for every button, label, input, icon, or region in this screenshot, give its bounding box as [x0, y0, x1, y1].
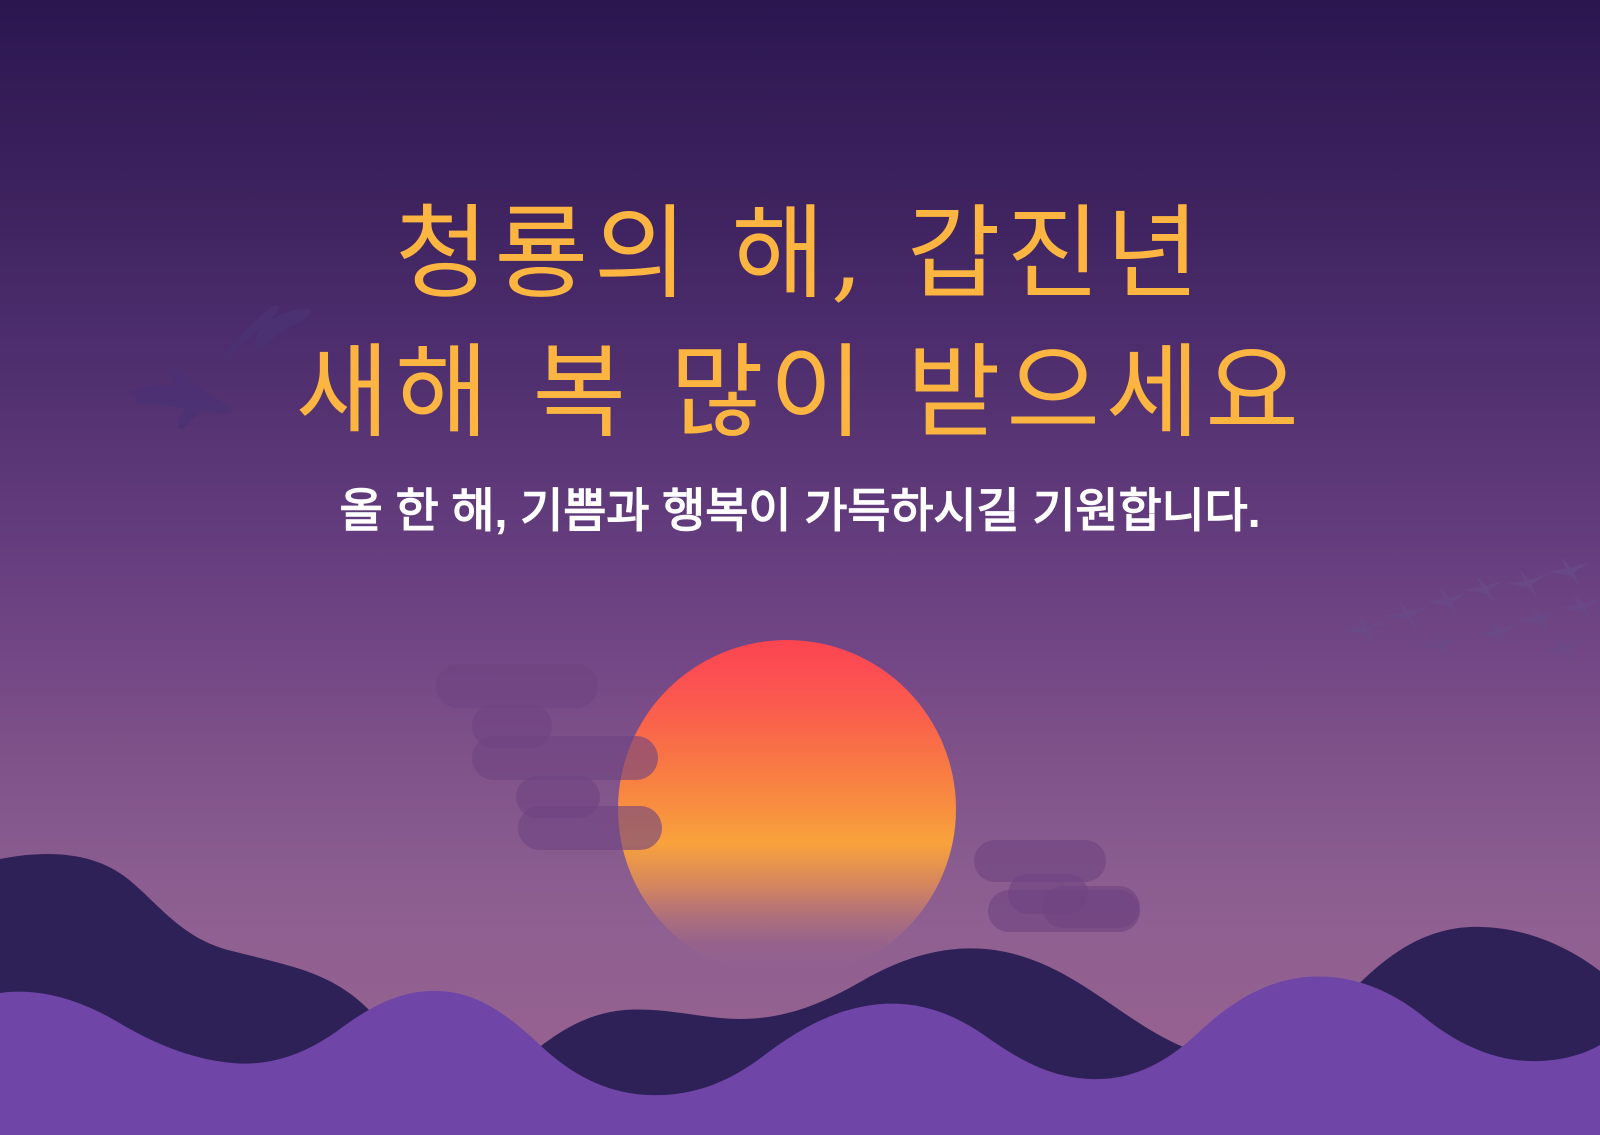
cloud-left-bar-3 [472, 736, 658, 780]
greeting-text-block: 청룡의 해, 갑진년 새해 복 많이 받으세요 올 한 해, 기쁨과 행복이 가… [0, 186, 1600, 540]
bird-flock-right-icon [1320, 548, 1600, 698]
headline-line-1: 청룡의 해, 갑진년 [0, 186, 1600, 325]
greeting-card: 청룡의 해, 갑진년 새해 복 많이 받으세요 올 한 해, 기쁨과 행복이 가… [0, 0, 1600, 1135]
hills-foreground [0, 805, 1600, 1135]
headline-line-2: 새해 복 많이 받으세요 [0, 325, 1600, 464]
cloud-left-bar-1 [436, 664, 598, 708]
greeting-subtitle: 올 한 해, 기쁨과 행복이 가득하시길 기원합니다. [0, 483, 1600, 539]
